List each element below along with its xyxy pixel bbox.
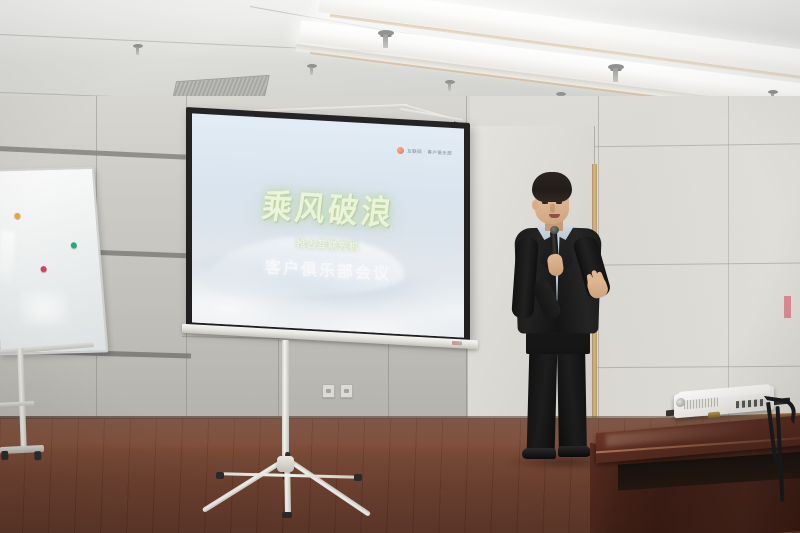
caster-wheel-icon [1, 451, 8, 460]
projection-screen-frame: 互联网 · 客户俱乐部 乘风破浪 抢占互联先机 客户俱乐部会议 [186, 107, 470, 344]
slide-logo-mark-icon [397, 147, 404, 154]
conference-room-photo: 互联网 · 客户俱乐部 乘风破浪 抢占互联先机 客户俱乐部会议 [0, 0, 800, 533]
projector[interactable] [674, 386, 782, 426]
tripod-mast [282, 340, 289, 463]
presenter-shoe-left [522, 448, 556, 459]
whiteboard-assembly[interactable] [0, 168, 112, 468]
screen-brand-logo-icon [452, 341, 462, 346]
tripod-hub [277, 456, 294, 472]
projector-adjustable-foot [708, 411, 720, 418]
wall-sign-marker [784, 296, 791, 318]
presenter-hand-holding-mic [547, 253, 565, 277]
podium-desk [596, 424, 800, 533]
slide-logo: 互联网 · 客户俱乐部 [397, 147, 452, 157]
slide-main-title: 乘风破浪 [192, 187, 464, 236]
sprinkler-head-icon [768, 90, 778, 94]
sprinkler-head-icon [307, 64, 317, 68]
sprinkler-head-icon [445, 80, 455, 84]
tripod-foot-left [216, 472, 224, 479]
wall-panel-joint [728, 96, 729, 426]
magnet-orange-icon[interactable] [14, 213, 20, 219]
caster-wheel-icon [34, 451, 41, 460]
sprinkler-head-icon [608, 64, 624, 70]
presenter-hair [532, 172, 572, 202]
magnet-green-icon[interactable] [71, 242, 77, 248]
presenter-ear [532, 200, 538, 210]
sprinkler-head-icon [378, 30, 394, 36]
projection-screen-assembly[interactable]: 互联网 · 客户俱乐部 乘风破浪 抢占互联先机 客户俱乐部会议 [186, 104, 486, 474]
whiteboard-stand-crossbar [0, 401, 34, 407]
sprinkler-head-icon [133, 44, 143, 48]
whiteboard-glare [0, 230, 15, 283]
slide-logo-text: 互联网 · 客户俱乐部 [407, 148, 452, 156]
tripod-foot-center [282, 512, 292, 518]
whiteboard-glare [18, 289, 69, 326]
presenter-leg-left [527, 348, 558, 455]
presenter-leg-right [557, 348, 587, 452]
whiteboard-stand-base [0, 445, 44, 454]
tripod-foot-right [354, 474, 362, 481]
whiteboard-stand-post [17, 348, 26, 448]
presenter-shoe-right [558, 446, 591, 457]
presenter-nose [550, 204, 555, 213]
magnet-red-icon[interactable] [40, 266, 46, 272]
whiteboard-surface[interactable] [0, 167, 108, 355]
projected-slide: 互联网 · 客户俱乐部 乘风破浪 抢占互联先机 客户俱乐部会议 [192, 113, 464, 337]
